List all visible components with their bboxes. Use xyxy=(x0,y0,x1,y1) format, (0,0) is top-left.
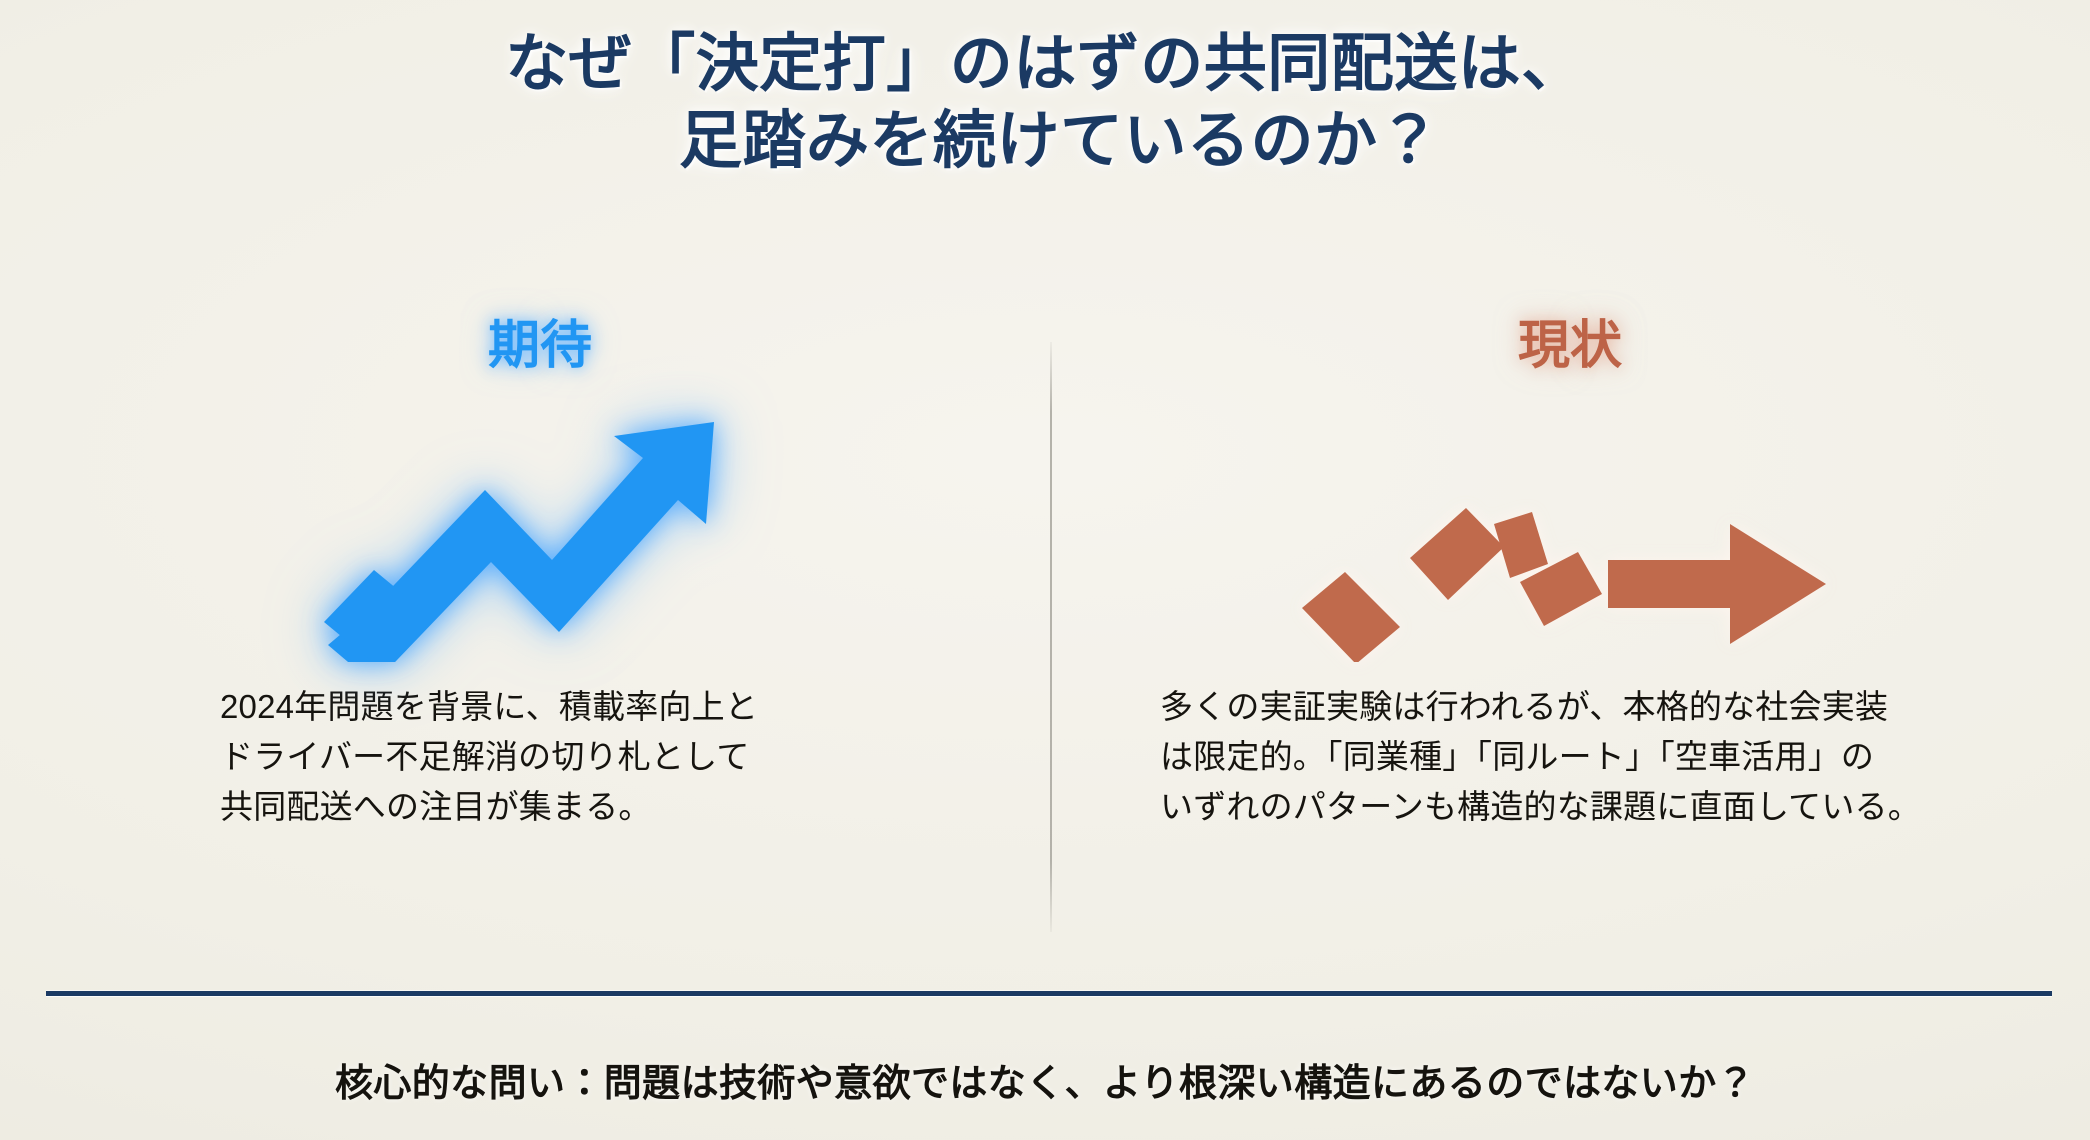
body-line: ドライバー不足解消の切り札として xyxy=(220,732,900,782)
column-divider xyxy=(1050,342,1052,932)
column-expectation: 期待 2024年問題を背景に、積載率向上と ドライバー不足解消の切り札として 共… xyxy=(60,320,1020,940)
body-line: は限定的。「同業種」「同ルート」「空車活用」の xyxy=(1160,732,2020,782)
title-line-1: なぜ「決定打」のはずの共同配送は、 xyxy=(0,26,2090,103)
body-line: 2024年問題を背景に、積載率向上と xyxy=(220,682,900,732)
footer-rule xyxy=(46,991,2052,996)
column-reality: 現状 xyxy=(1090,320,2050,940)
column-heading-reality: 現状 xyxy=(1090,320,2050,386)
body-line: 共同配送への注目が集まる。 xyxy=(220,782,900,832)
slide-canvas: なぜ「決定打」のはずの共同配送は、 足踏みを続けているのか？ 期待 2024年問… xyxy=(0,0,2090,1140)
body-line: 多くの実証実験は行われるが、本格的な社会実装 xyxy=(1160,682,2020,732)
broken-flattening-arrow-icon xyxy=(1090,412,2050,662)
slide-title: なぜ「決定打」のはずの共同配送は、 足踏みを続けているのか？ xyxy=(0,26,2090,180)
title-line-2: 足踏みを続けているのか？ xyxy=(0,103,2090,180)
body-line: いずれのパターンも構造的な課題に直面している。 xyxy=(1160,782,2020,832)
column-body-expectation: 2024年問題を背景に、積載率向上と ドライバー不足解消の切り札として 共同配送… xyxy=(60,682,1020,832)
footer-question: 核心的な問い：問題は技術や意欲ではなく、より根深い構造にあるのではないか？ xyxy=(0,1052,2090,1107)
footer-text: 核心的な問い：問題は技術や意欲ではなく、より根深い構造にあるのではないか？ xyxy=(335,1052,1755,1107)
upward-zigzag-arrow-icon xyxy=(60,412,1020,662)
column-body-reality: 多くの実証実験は行われるが、本格的な社会実装 は限定的。「同業種」「同ルート」「… xyxy=(1090,682,2050,832)
comparison-columns: 期待 2024年問題を背景に、積載率向上と ドライバー不足解消の切り札として 共… xyxy=(0,320,2090,940)
column-heading-expectation: 期待 xyxy=(60,320,1020,386)
